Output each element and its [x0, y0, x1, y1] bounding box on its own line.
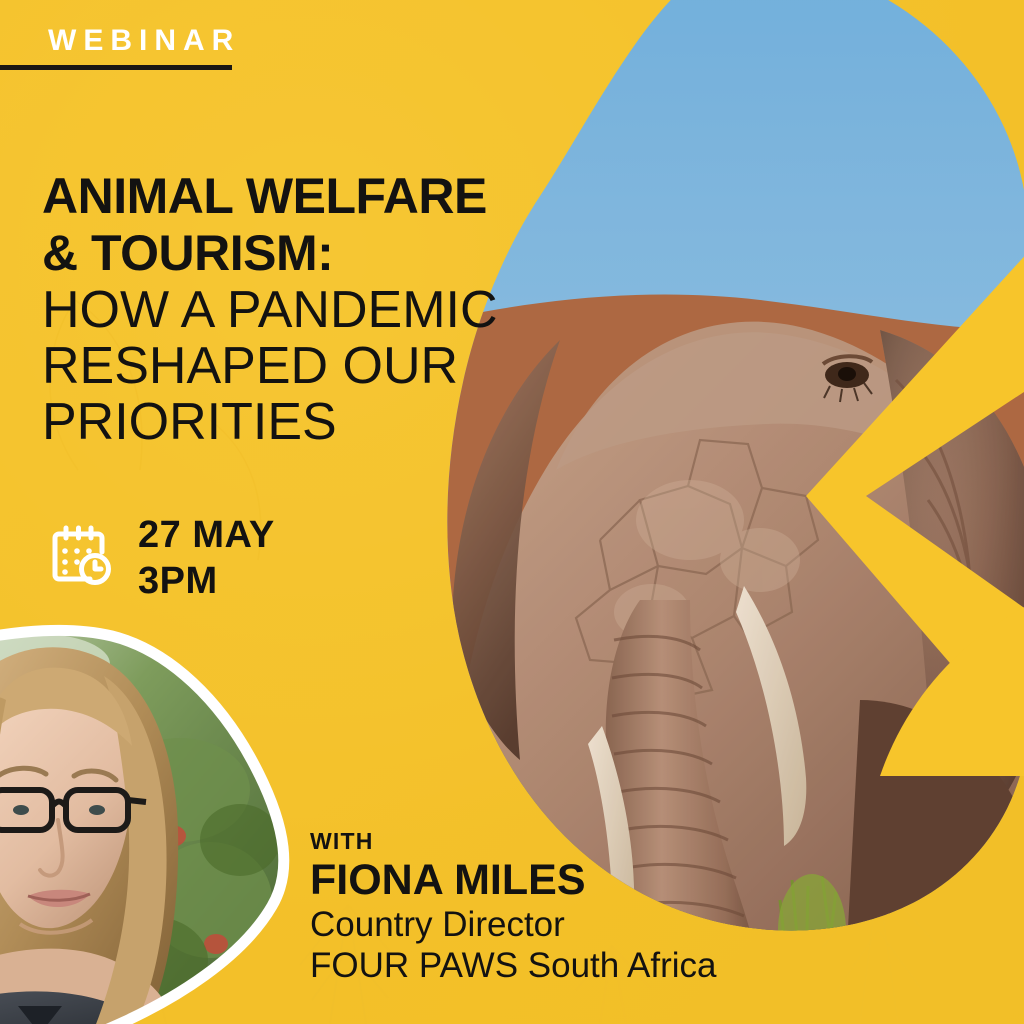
date-day-month: 27 MAY	[138, 512, 275, 558]
speaker-role: Country Director	[310, 904, 717, 945]
headline-line-3: HOW A PANDEMIC	[42, 282, 562, 338]
speaker-name: FIONA MILES	[310, 856, 717, 904]
webinar-poster: WEBINAR ANIMAL WELFARE & TOURISM: HOW A …	[0, 0, 1024, 1024]
date-time-block: 27 MAY 3PM	[46, 512, 275, 604]
speaker-with-label: WITH	[310, 826, 717, 856]
headline-line-1: ANIMAL WELFARE	[42, 168, 562, 225]
page-title: ANIMAL WELFARE & TOURISM: HOW A PANDEMIC…	[42, 168, 562, 450]
eyebrow: WEBINAR	[0, 18, 250, 70]
headline-line-4: RESHAPED OUR	[42, 338, 562, 394]
headline-line-5: PRIORITIES	[42, 394, 562, 450]
eyebrow-underline	[0, 65, 232, 70]
eyebrow-label: WEBINAR	[0, 18, 250, 64]
speaker-organisation: FOUR PAWS South Africa	[310, 945, 717, 986]
headline-line-2: & TOURISM:	[42, 225, 562, 282]
date-time: 3PM	[138, 558, 275, 604]
calendar-clock-icon	[46, 520, 116, 590]
speaker-block: WITH FIONA MILES Country Director FOUR P…	[310, 826, 717, 986]
date-text: 27 MAY 3PM	[138, 512, 275, 604]
